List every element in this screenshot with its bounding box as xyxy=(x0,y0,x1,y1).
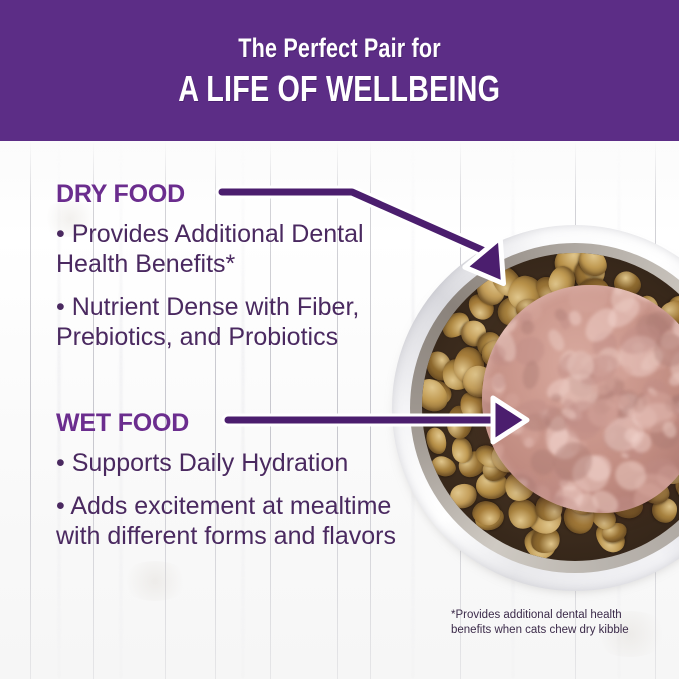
list-item: • Provides Additional Dental Health Bene… xyxy=(56,219,406,279)
bullet-dot: • xyxy=(56,449,65,477)
pate-texture-blob xyxy=(486,294,519,325)
footnote-disclaimer: *Provides additional dental health benef… xyxy=(451,608,666,637)
header-title-line2: A LIFE OF WELLBEING xyxy=(179,71,501,107)
section-heading-dry-food: DRY FOOD xyxy=(56,180,185,209)
bullet-dot: • xyxy=(56,220,65,248)
footnote-line2: benefits when cats chew dry kibble xyxy=(451,623,666,638)
bullet-dot: • xyxy=(56,492,65,520)
benefits-text-column: DRY FOOD • Provides Additional Dental He… xyxy=(0,141,392,679)
bullet-list-wet-food: • Supports Daily Hydration • Adds excite… xyxy=(56,448,406,564)
pate-texture-blob xyxy=(488,442,507,465)
section-heading-wet-food: WET FOOD xyxy=(56,409,189,438)
wet-food-pate xyxy=(482,285,679,513)
bowl-of-cat-food-photo xyxy=(392,225,679,591)
bullet-dot: • xyxy=(56,293,65,321)
bullet-text: Nutrient Dense with Fiber, Prebiotics, a… xyxy=(56,293,359,351)
header-title-line1: The Perfect Pair for xyxy=(238,35,440,62)
list-item: • Nutrient Dense with Fiber, Prebiotics,… xyxy=(56,292,406,352)
list-item: • Adds excitement at mealtime with diffe… xyxy=(56,491,406,551)
bullet-list-dry-food: • Provides Additional Dental Health Bene… xyxy=(56,219,406,365)
footnote-line1: *Provides additional dental health xyxy=(451,608,666,623)
product-infographic: The Perfect Pair for A LIFE OF WELLBEING… xyxy=(0,0,679,679)
pate-texture-blob xyxy=(521,320,535,335)
bullet-text: Provides Additional Dental Health Benefi… xyxy=(56,220,364,278)
bullet-text: Adds excitement at mealtime with differe… xyxy=(56,492,396,550)
pate-texture-blob xyxy=(546,327,568,353)
bullet-text: Supports Daily Hydration xyxy=(72,449,349,477)
header-banner: The Perfect Pair for A LIFE OF WELLBEING xyxy=(0,0,679,141)
list-item: • Supports Daily Hydration xyxy=(56,448,406,478)
